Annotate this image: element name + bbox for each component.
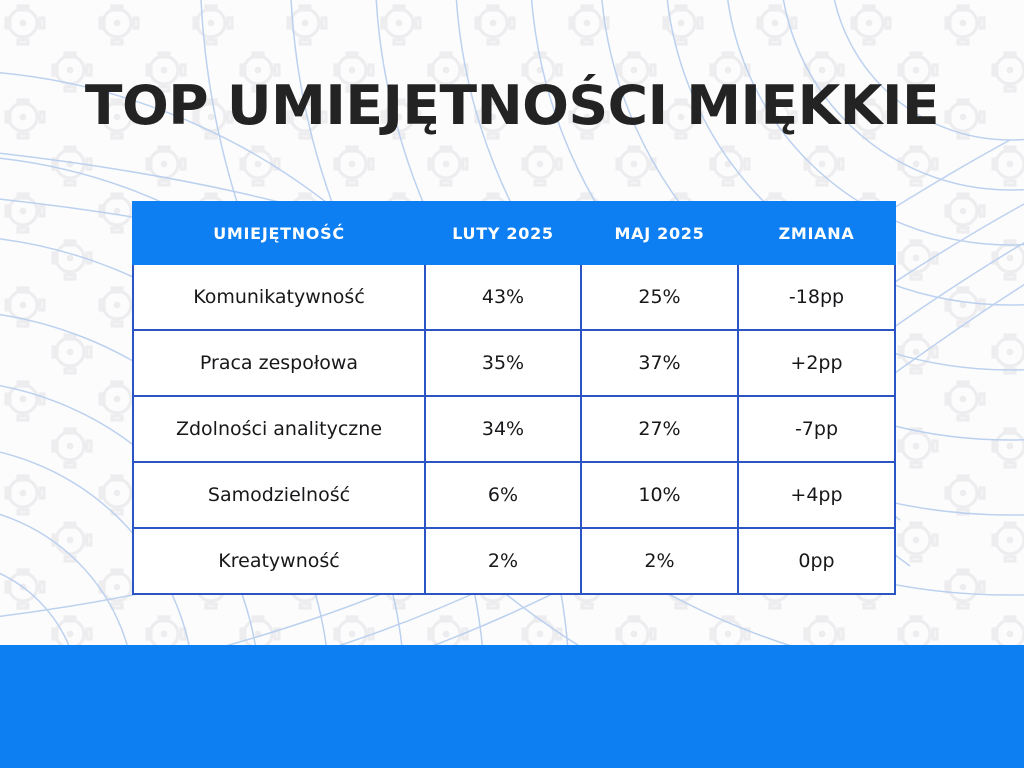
cell-change: +2pp bbox=[738, 330, 895, 396]
cell-feb: 43% bbox=[425, 264, 581, 330]
table-row: Kreatywność 2% 2% 0pp bbox=[133, 528, 895, 594]
table-row: Samodzielność 6% 10% +4pp bbox=[133, 462, 895, 528]
cell-may: 37% bbox=[581, 330, 738, 396]
table-body: Komunikatywność 43% 25% -18pp Praca zesp… bbox=[133, 264, 895, 594]
column-header-skill: UMIEJĘTNOŚĆ bbox=[133, 202, 425, 264]
cell-skill: Komunikatywność bbox=[133, 264, 425, 330]
cell-feb: 34% bbox=[425, 396, 581, 462]
table-row: Praca zespołowa 35% 37% +2pp bbox=[133, 330, 895, 396]
column-header-change: ZMIANA bbox=[738, 202, 895, 264]
cell-feb: 35% bbox=[425, 330, 581, 396]
cell-may: 2% bbox=[581, 528, 738, 594]
cell-may: 10% bbox=[581, 462, 738, 528]
cell-may: 27% bbox=[581, 396, 738, 462]
table-row: Zdolności analityczne 34% 27% -7pp bbox=[133, 396, 895, 462]
cell-feb: 2% bbox=[425, 528, 581, 594]
column-header-may: MAJ 2025 bbox=[581, 202, 738, 264]
column-header-feb: LUTY 2025 bbox=[425, 202, 581, 264]
cell-change: +4pp bbox=[738, 462, 895, 528]
cell-change: -18pp bbox=[738, 264, 895, 330]
cell-feb: 6% bbox=[425, 462, 581, 528]
table-header-row: UMIEJĘTNOŚĆ LUTY 2025 MAJ 2025 ZMIANA bbox=[133, 202, 895, 264]
cell-may: 25% bbox=[581, 264, 738, 330]
page-title: TOP UMIEJĘTNOŚCI MIĘKKIE bbox=[0, 76, 1024, 136]
table-row: Komunikatywność 43% 25% -18pp bbox=[133, 264, 895, 330]
cell-change: 0pp bbox=[738, 528, 895, 594]
cell-skill: Samodzielność bbox=[133, 462, 425, 528]
cell-skill: Kreatywność bbox=[133, 528, 425, 594]
skills-table: UMIEJĘTNOŚĆ LUTY 2025 MAJ 2025 ZMIANA Ko… bbox=[132, 201, 896, 595]
table-header: UMIEJĘTNOŚĆ LUTY 2025 MAJ 2025 ZMIANA bbox=[133, 202, 895, 264]
cell-skill: Zdolności analityczne bbox=[133, 396, 425, 462]
footer-bar: testerzy.pl % ofert, które skierowane są… bbox=[0, 645, 1024, 768]
cell-change: -7pp bbox=[738, 396, 895, 462]
cell-skill: Praca zespołowa bbox=[133, 330, 425, 396]
